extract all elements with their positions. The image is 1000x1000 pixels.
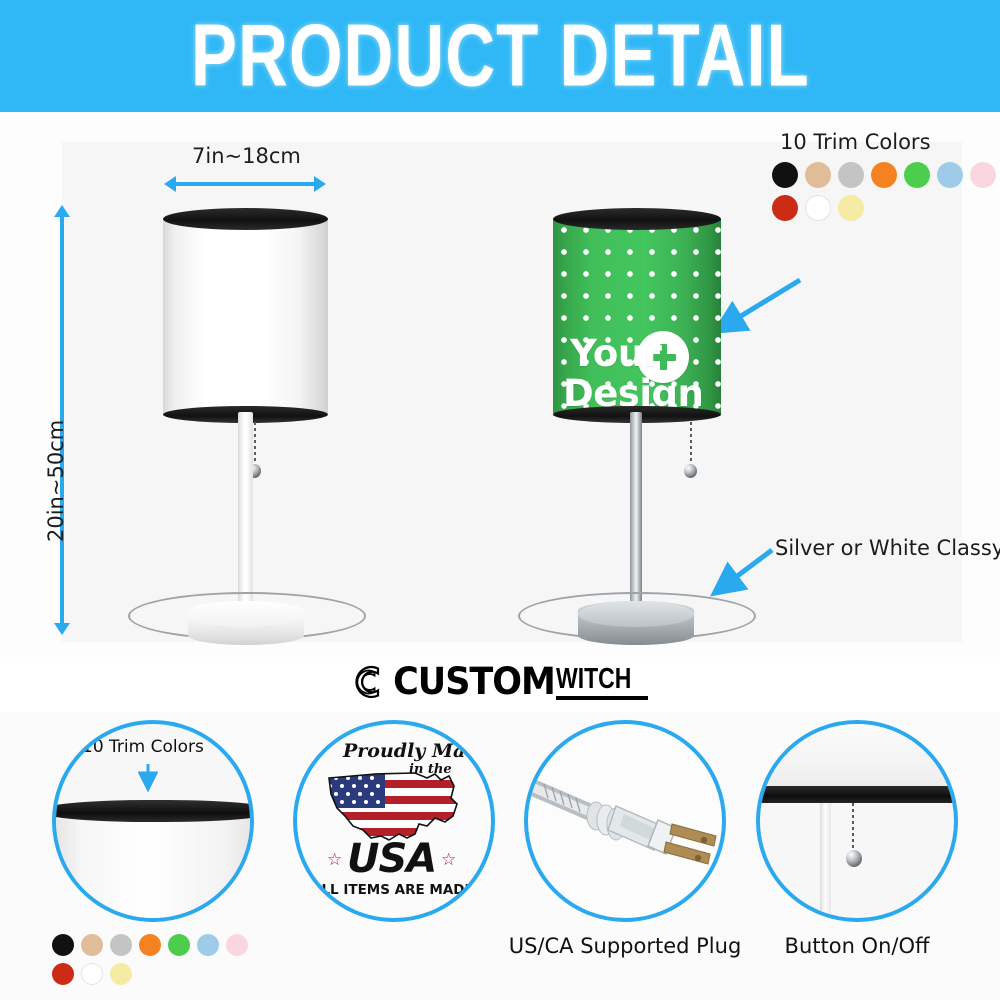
double-ring-c-icon [352,662,392,702]
page-title: PRODUCT DETAIL [191,6,810,106]
trim-colors-inset-label: 10 Trim Colors [82,737,204,757]
lampshade-green: Your Design [553,208,721,423]
width-dimension-arrow [175,182,315,186]
trim-swatch-yellow[interactable] [838,195,864,221]
trim-swatch-yellow[interactable] [110,963,132,985]
pole-closeup [820,803,831,921]
shade-bottom-closeup [756,720,958,790]
trim-swatch-light-blue[interactable] [937,162,963,188]
trim-swatch-tan[interactable] [81,934,103,956]
base-finish-label: Silver or White Classy [775,536,1000,560]
lamp-base-white [188,601,304,645]
trim-color-swatches-bottom[interactable] [52,934,264,985]
trim-swatch-black[interactable] [52,934,74,956]
trim-colors-circle: 10 Trim Colors [52,720,254,922]
base-top-face [188,601,304,627]
header-banner: PRODUCT DETAIL [0,0,1000,112]
trim-swatch-light-blue[interactable] [197,934,219,956]
trim-colors-inset-arrow [138,762,158,798]
trim-swatch-red[interactable] [52,963,74,985]
star-right-icon: ☆ [441,850,456,870]
pull-chain-bead-closeup[interactable] [846,850,862,867]
trim-ring-closeup [52,800,254,822]
trim-ring-top-green [553,208,721,230]
trim-ring-switch-closeup [756,786,958,803]
brand-logo: CUSTOM WITCH [0,662,1000,702]
trim-swatch-orange[interactable] [871,162,897,188]
shade-surface [163,219,328,414]
trim-swatch-gray[interactable] [838,162,864,188]
product-stage: 10 Trim Colors 7in~18cm 20in~50cm [0,112,1000,657]
usa-badge-line1: Proudly Made [343,740,491,762]
switch-circle [756,720,958,922]
pull-chain-bead-green[interactable] [684,464,697,478]
base-finish-arrow [700,544,780,606]
lamp-base-silver [578,601,694,645]
trim-swatch-black[interactable] [772,162,798,188]
trim-swatch-white[interactable] [805,195,831,221]
brand-name-primary: CUSTOM [393,660,555,703]
trim-swatch-red[interactable] [772,195,798,221]
power-plug-icon [530,770,726,890]
switch-caption: Button On/Off [736,934,978,958]
trim-color-swatches-top[interactable] [772,162,1000,221]
trim-colors-top-label: 10 Trim Colors [780,130,931,154]
lampshade-white [163,208,328,423]
trim-swatch-gray[interactable] [110,934,132,956]
made-in-usa-circle: Proudly Made in the [293,720,495,922]
pull-chain-closeup[interactable] [852,803,854,855]
design-text-line1: Your [570,334,661,374]
base-top-face-silver [578,601,694,627]
height-dimension-label: 20in~50cm [44,420,68,542]
trim-swatch-pink[interactable] [970,162,996,188]
trim-swatch-pink[interactable] [226,934,248,956]
trim-swatch-tan[interactable] [805,162,831,188]
plug-caption: US/CA Supported Plug [504,934,746,958]
trim-swatch-orange[interactable] [139,934,161,956]
usa-badge-footer: ALL ITEMS ARE MADE TO ORDER! [311,882,495,898]
shade-surface-green: Your Design [553,219,721,414]
width-dimension-label: 7in~18cm [192,144,301,168]
feature-row: 10 Trim Colors Proudly Made in the [0,712,1000,1000]
star-left-icon: ☆ [327,850,342,870]
shade-closeup-surface [52,810,254,922]
usa-badge-country: USA [347,836,436,882]
trim-swatch-white[interactable] [81,963,103,985]
brand-name-secondary: WITCH [556,662,641,695]
trim-ring-top [163,208,328,230]
plug-circle [524,720,726,922]
trim-swatch-green[interactable] [904,162,930,188]
trim-swatch-green[interactable] [168,934,190,956]
